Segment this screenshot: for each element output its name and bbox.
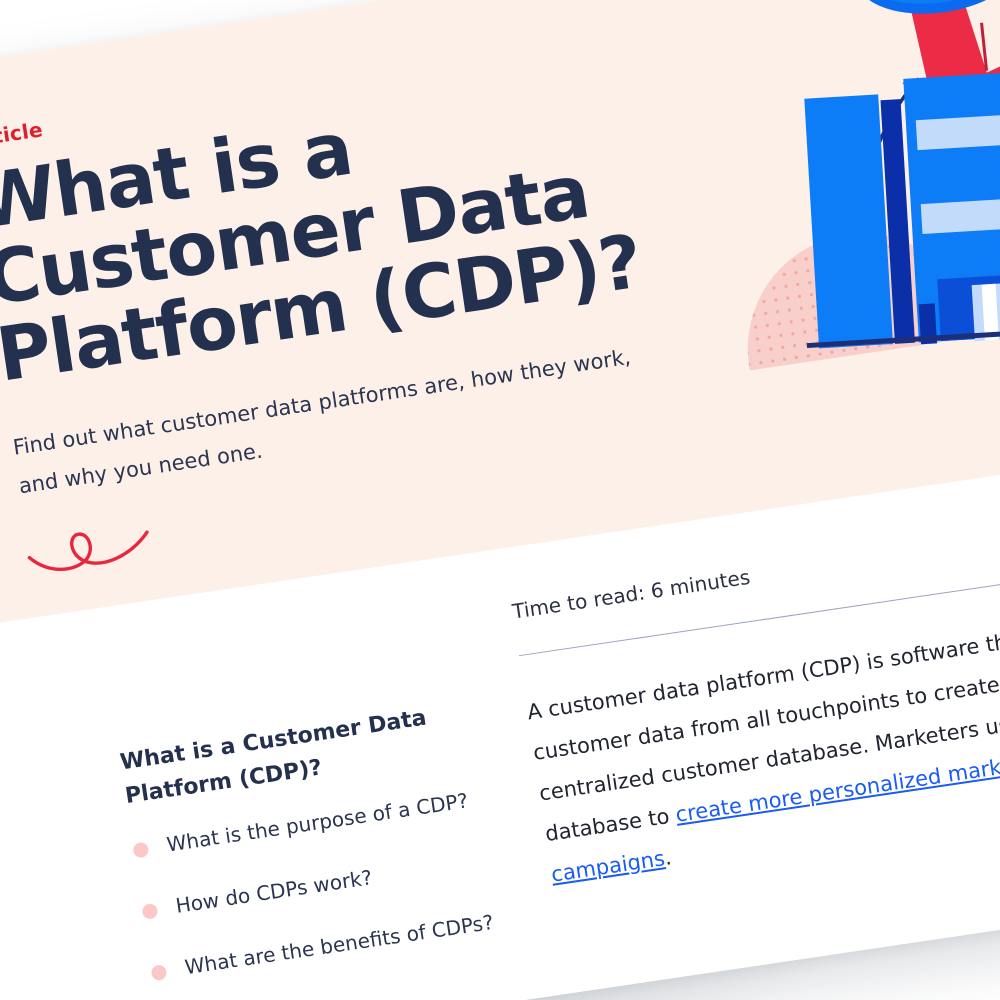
toc-item-label: How do CDPs work? — [174, 865, 374, 918]
toc-item-benefits[interactable]: What are the benefits of CDPs? — [150, 902, 549, 984]
intro-paragraph: A customer data platform (CDP) is softwa… — [524, 605, 1000, 895]
toc-item-label: What are the benefits of CDPs? — [183, 910, 495, 979]
table-of-contents: What is the purpose of a CDP? How do CDP… — [131, 779, 554, 1000]
article-card: Article What is a Customer Data Platform… — [0, 0, 1000, 1000]
red-loop-squiggle-icon — [21, 510, 158, 588]
hero-illustration — [647, 0, 1000, 416]
toc-item-how-work[interactable]: How do CDPs work? — [141, 841, 540, 923]
article-card-wrapper: Article What is a Customer Data Platform… — [0, 0, 1000, 1000]
read-time-label: Time to read: 6 minutes — [511, 565, 752, 624]
eyebrow-label: Article — [0, 117, 44, 152]
